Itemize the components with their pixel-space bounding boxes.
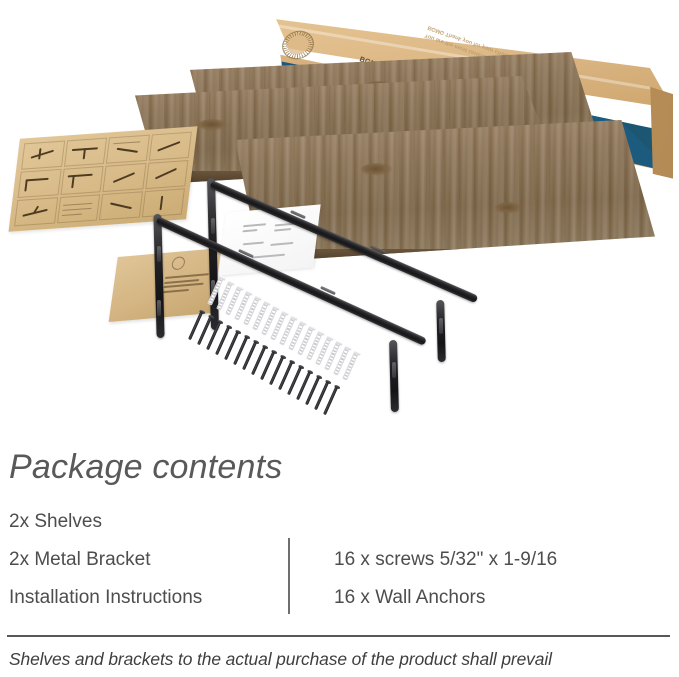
instruction-panel <box>102 163 146 192</box>
instruction-panel <box>21 141 65 170</box>
page-title: Package contents <box>9 448 283 487</box>
bracket-slot <box>439 318 443 334</box>
instruction-panel <box>60 166 104 195</box>
bracket-wall-bar <box>153 214 164 338</box>
instruction-diagram-grid <box>14 132 192 227</box>
contents-item-left: 2x Shelves <box>9 511 102 533</box>
envelope-printed-text <box>163 273 209 295</box>
contents-item-left: 2x Metal Bracket <box>9 549 151 571</box>
contents-item-right: 16 x Wall Anchors <box>334 587 485 609</box>
bracket-slot <box>157 246 161 262</box>
contents-row: 2x Metal Bracket 16 x screws 5/32" x 1-9… <box>9 546 671 584</box>
white-instruction-card <box>218 204 320 275</box>
horizontal-rule <box>7 635 670 637</box>
instruction-panel <box>57 194 101 223</box>
bracket-slot <box>157 300 161 316</box>
contents-row: 2x Shelves <box>9 508 671 546</box>
bracket-slot <box>211 218 215 234</box>
instruction-panel <box>106 135 150 164</box>
instruction-panel <box>141 188 185 217</box>
instruction-panel <box>145 160 189 189</box>
column-divider <box>288 538 290 614</box>
instruction-panel <box>99 191 143 220</box>
instruction-panel <box>18 169 62 198</box>
disclaimer-text: Shelves and brackets to the actual purch… <box>9 649 552 670</box>
contents-row: Installation Instructions 16 x Wall Anch… <box>9 584 671 622</box>
contents-item-left: Installation Instructions <box>9 587 202 609</box>
instruction-panel <box>63 138 107 167</box>
instruction-panel <box>14 197 58 226</box>
bracket-slot <box>392 362 396 378</box>
wood-knot <box>361 163 393 176</box>
contents-list: 2x Shelves 2x Metal Bracket 16 x screws … <box>9 508 671 622</box>
instruction-panel <box>148 132 192 161</box>
package-contents-section: Package contents 2x Shelves 2x Metal Bra… <box>0 440 679 677</box>
product-package-contents-page: BGMG Thank you for your choice You are t… <box>0 0 679 677</box>
envelope-stamp-icon <box>171 256 186 270</box>
installation-instruction-sheet <box>9 126 198 231</box>
product-photo: BGMG Thank you for your choice You are t… <box>0 0 679 440</box>
contents-item-right: 16 x screws 5/32" x 1-9/16 <box>334 549 557 571</box>
